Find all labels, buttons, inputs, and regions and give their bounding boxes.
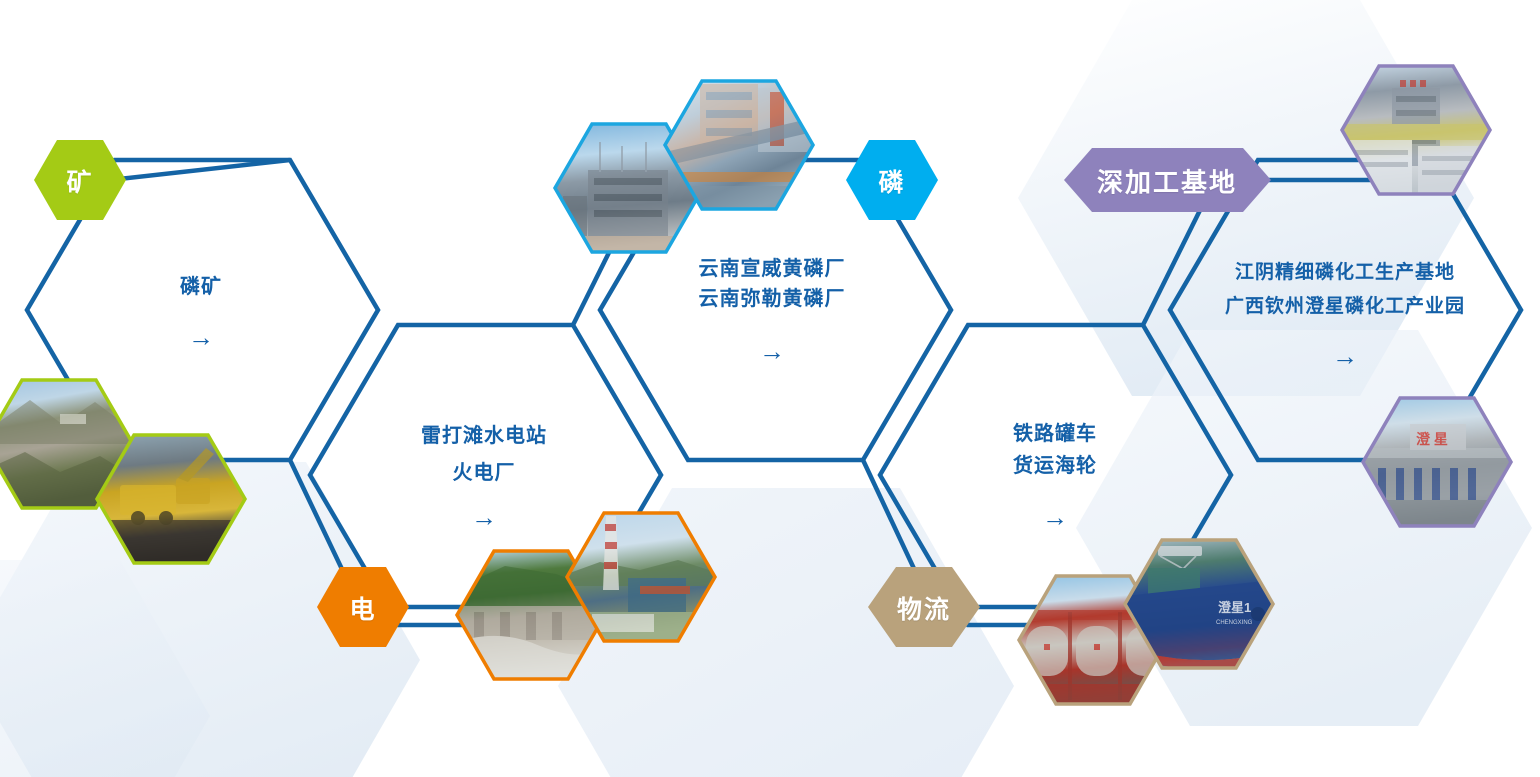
badge-label-phosphorus: 磷 bbox=[878, 163, 905, 199]
badge-label-mine: 矿 bbox=[66, 163, 93, 199]
stage-body-logistics-line1: 铁路罐车 bbox=[1013, 417, 1097, 446]
stage-arrow-logistics: → bbox=[1042, 502, 1068, 533]
stage-body-mine-line1: 磷矿 bbox=[180, 270, 222, 299]
badge-label-deep-processing: 深加工基地 bbox=[1097, 163, 1237, 200]
stage-body-power-line2: 火电厂 bbox=[453, 456, 516, 485]
stage-arrow-deep: → bbox=[1332, 341, 1358, 372]
text-layer: 矿 电 磷 物流 深加工基地 磷矿 → 雷打滩水电站 火电厂 → 云南宣威黄磷厂… bbox=[0, 0, 1540, 777]
badge-label-power: 电 bbox=[349, 590, 376, 626]
stage-arrow-power: → bbox=[471, 502, 497, 533]
stage-body-power-line1: 雷打滩水电站 bbox=[421, 419, 547, 448]
stage-arrow-mine: → bbox=[188, 322, 214, 353]
stage-body-deep-line2: 广西钦州澄星磷化工产业园 bbox=[1225, 291, 1465, 318]
stage-body-logistics-line2: 货运海轮 bbox=[1013, 449, 1097, 478]
stage-body-phosphorus-line2: 云南弥勒黄磷厂 bbox=[699, 282, 846, 311]
stage-arrow-phosphorus: → bbox=[759, 336, 785, 367]
badge-label-logistics: 物流 bbox=[897, 590, 951, 626]
infographic-canvas: 澄星1 CHENGXING bbox=[0, 0, 1540, 777]
stage-body-phosphorus-line1: 云南宣威黄磷厂 bbox=[699, 252, 846, 281]
stage-body-deep-line1: 江阴精细磷化工生产基地 bbox=[1235, 257, 1455, 284]
